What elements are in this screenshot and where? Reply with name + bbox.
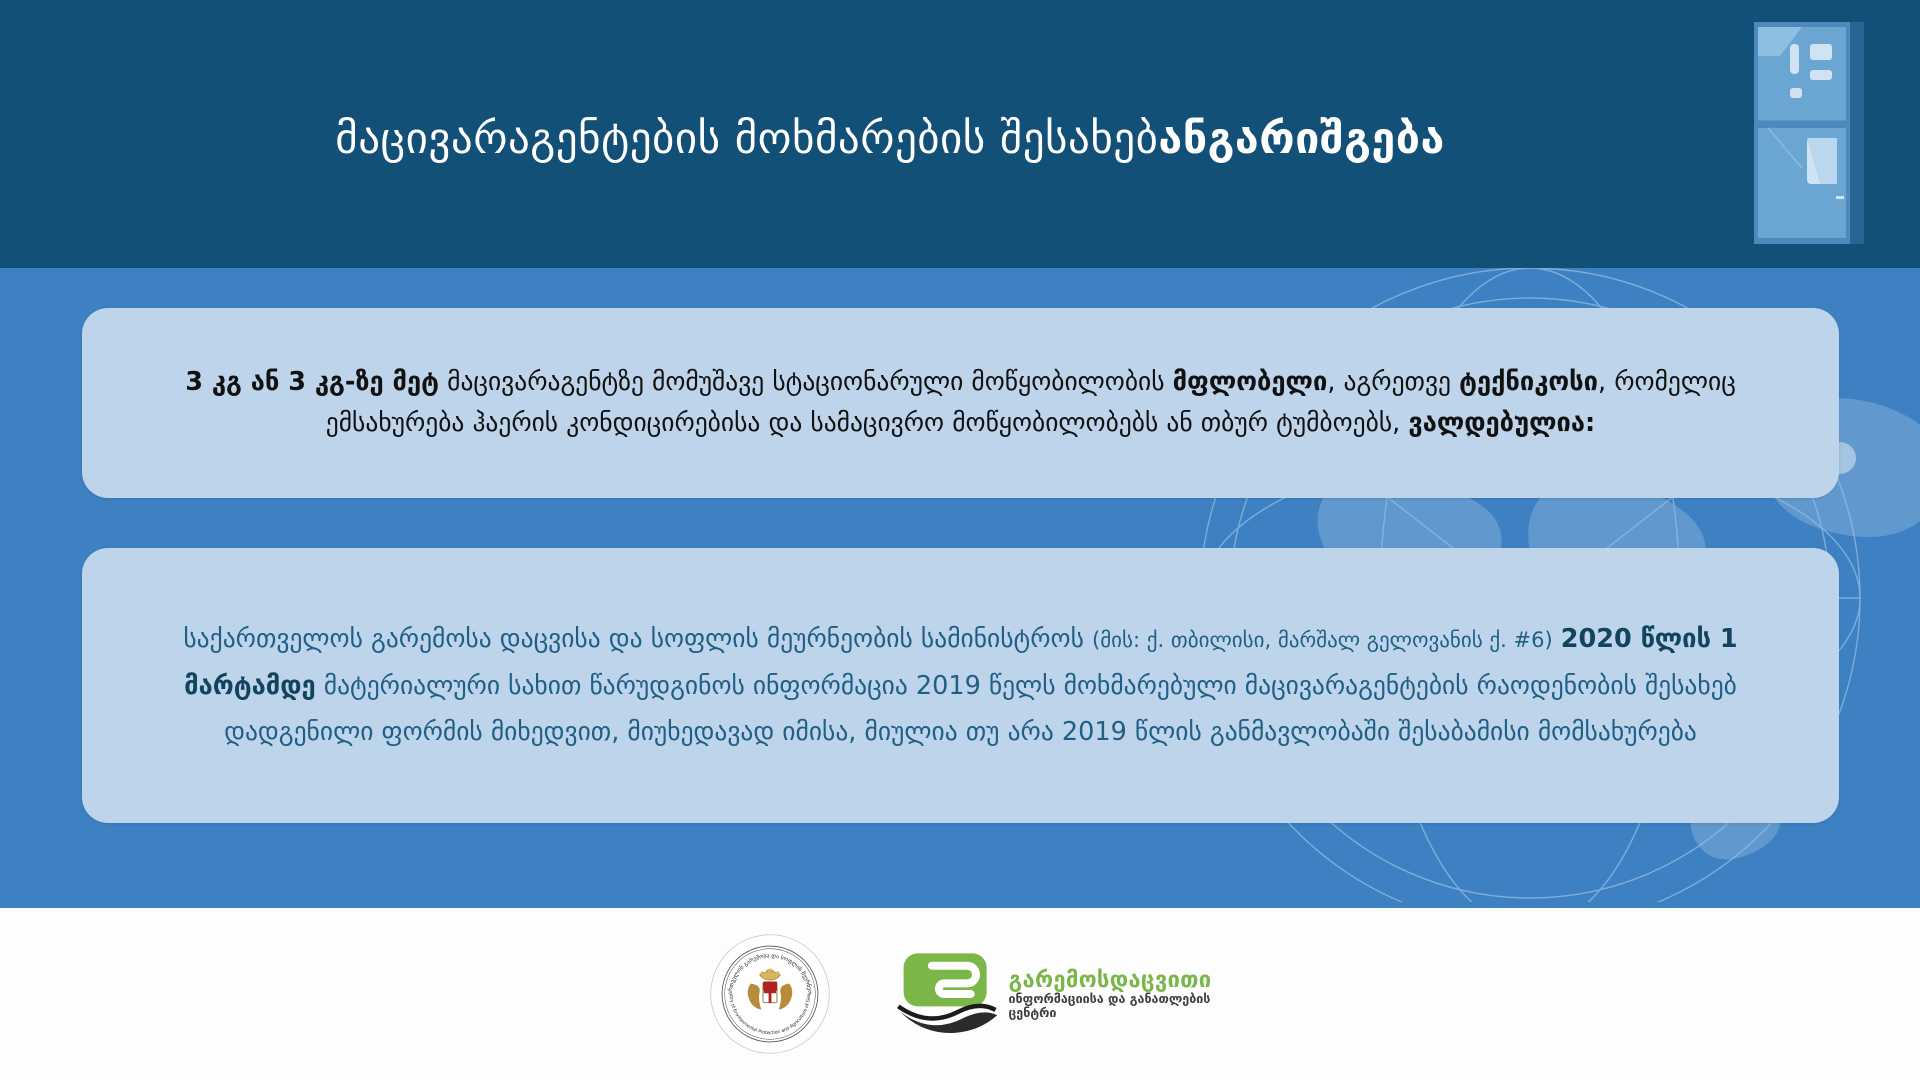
ministry-seal-icon: საქართველოს გარემოსა და სოფლის მეურნეობი… (709, 933, 831, 1055)
page-title-bold: ანგარიშგება (1158, 114, 1444, 164)
text-run-6: ვალდებულია: (1408, 408, 1595, 438)
text-run-0: საქართველოს გარემოსა დაცვისა და სოფლის მ… (183, 624, 1092, 654)
eiec-mark-icon (893, 948, 999, 1040)
text-run-0: 3 კგ ან 3 კგ-ზე მეტ (185, 367, 439, 397)
refrigerator-icon (1750, 18, 1868, 248)
text-run-4: მატერიალური სახით წარუდგინოს ინფორმაცია … (224, 671, 1737, 747)
page-title-normal: მაცივარაგენტების მოხმარების შესახებ (335, 114, 1158, 164)
eiec-line-2: ინფორმაციისა და განათლების (1009, 992, 1212, 1006)
text-run-1: (მის: ქ. თბილისი, მარშალ გელოვანის ქ. #6… (1092, 628, 1553, 652)
page-title: მაცივარაგენტების მოხმარების შესახებ ანგა… (0, 0, 1780, 268)
eiec-logo: გარემოსდაცვითი ინფორმაციისა და განათლები… (893, 948, 1212, 1040)
deadline-text: საქართველოს გარემოსა დაცვისა და სოფლის მ… (116, 616, 1805, 755)
requirement-card: 3 კგ ან 3 კგ-ზე მეტ მაცივარაგენტზე მომუშ… (82, 308, 1839, 498)
slide-footer: საქართველოს გარემოსა და სოფლის მეურნეობი… (0, 908, 1920, 1080)
presentation-slide: მაცივარაგენტების მოხმარების შესახებ ანგა… (0, 0, 1920, 1080)
text-run-3: , აგრეთვე (1327, 367, 1459, 397)
eiec-line-3: ცენტრი (1009, 1006, 1212, 1020)
text-run-2: მფლობელი (1173, 367, 1328, 397)
requirement-text: 3 კგ ან 3 კგ-ზე მეტ მაცივარაგენტზე მომუშ… (116, 362, 1805, 444)
text-run-2 (1553, 624, 1561, 654)
text-run-4: ტექნიკოსი (1459, 367, 1598, 397)
eiec-line-1: გარემოსდაცვითი (1009, 969, 1212, 993)
deadline-card: საქართველოს გარემოსა დაცვისა და სოფლის მ… (82, 548, 1839, 823)
slide-header: მაცივარაგენტების მოხმარების შესახებ ანგა… (0, 0, 1920, 268)
text-run-1: მაცივარაგენტზე მომუშავე სტაციონარული მოწ… (439, 367, 1173, 397)
